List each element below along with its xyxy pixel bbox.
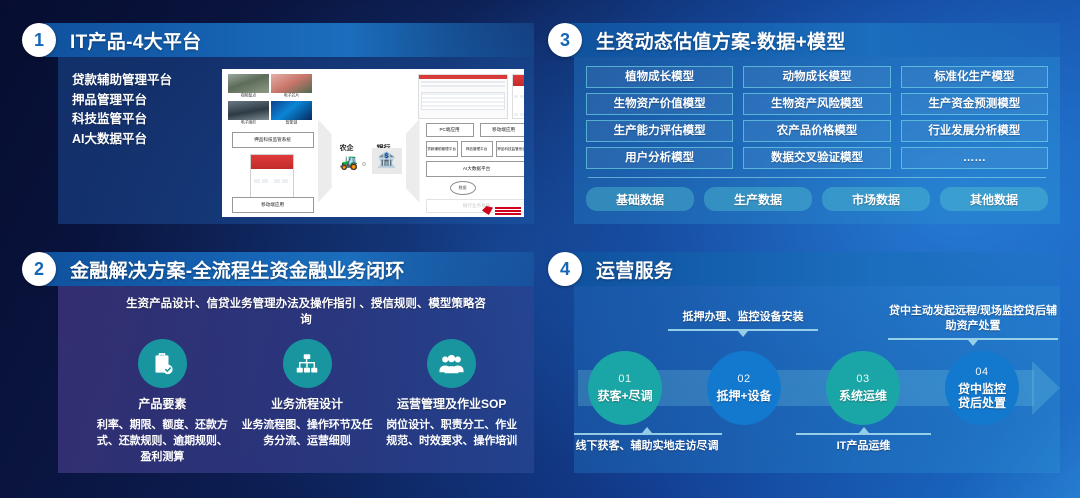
data-sync-icon: 数据	[450, 181, 476, 195]
quadrant-4-operation-service: 4 运营服务 抵押办理、监控设备安装 贷中主动发起远程/现场监控贷后辅助资产处置…	[548, 252, 1060, 473]
vendor-logo	[482, 206, 521, 215]
mobile-app-mockup-right	[512, 74, 524, 119]
quadrant-2-intro-text: 生资产品设计、信贷业务管理办法及操作指引 、授信规则、模型策略咨询	[68, 296, 524, 328]
service-body: 业务流程图、操作环节及任务分流、运营细则	[241, 417, 374, 449]
step-number: 03	[856, 373, 869, 385]
service-heading: 运营管理及作业SOP	[385, 395, 518, 412]
bank-building-icon: 🏦	[372, 148, 402, 174]
label-agricultural-enterprise: 农企	[340, 143, 354, 153]
model-cell: 行业发展分析模型	[901, 120, 1048, 142]
thumbnail-label: 视频监点	[224, 93, 271, 99]
step-label: 系统运维	[839, 389, 887, 403]
quadrant-2-financial-solution: 2 金融解决方案-全流程生资金融业务闭环 生资产品设计、信贷业务管理办法及操作指…	[22, 252, 534, 473]
platform-list: 贷款辅助管理平台 押品管理平台 科技监管平台 AI大数据平台	[72, 69, 216, 149]
mini-cell	[514, 113, 518, 116]
thumbnail-image	[228, 101, 269, 120]
diagram-box-loan-platform: 贷款辅助管理平台	[426, 141, 458, 157]
quadrant-3-valuation-solution: 3 生资动态估值方案-数据+模型 植物成长模型 动物成长模型 标准化生产模型 生…	[548, 23, 1060, 224]
logo-wordmark	[495, 207, 521, 215]
diagram-box-pc-app: PC端应用	[426, 123, 474, 137]
people-group-icon	[427, 339, 476, 388]
step-label: 获客+尽调	[597, 389, 652, 403]
architecture-diagram-screenshot: 视频监点 电子芯片 电子围栏 智能锁 押品科技监管系统	[222, 69, 524, 217]
phone-cell	[254, 179, 260, 183]
caption-step-1: 线下获客、辅助实地走访尽调	[574, 427, 722, 454]
process-step-01[interactable]: 01 获客+尽调	[588, 351, 662, 425]
mini-cell	[520, 95, 524, 98]
service-body: 岗位设计、职责分工、作业规范、时效要求、操作培训	[385, 417, 518, 449]
model-cell: 动物成长模型	[743, 66, 890, 88]
diagram-box-ai-bigdata: AI大数据平台	[426, 161, 524, 177]
diagram-box-mobile-app-left: 移动端应用	[232, 197, 314, 213]
service-column: 业务流程设计 业务流程图、操作环节及任务分流、运营细则	[235, 339, 380, 465]
mini-phone-grid	[513, 86, 524, 119]
quadrant-4-body: 抵押办理、监控设备安装 贷中主动发起远程/现场监控贷后辅助资产处置 01 获客+…	[574, 286, 1060, 473]
service-body: 利率、期限、额度、还款方式、还款规则、逾期规则、盈利测算	[96, 417, 229, 465]
quadrant-1-body: 贷款辅助管理平台 押品管理平台 科技监管平台 AI大数据平台 视频监点 电子芯片…	[58, 57, 534, 224]
thumbnail-image	[228, 74, 269, 93]
model-cell: 生物资产价值模型	[586, 93, 733, 115]
quadrant-number-badge: 1	[22, 23, 56, 57]
service-heading: 业务流程设计	[241, 395, 374, 412]
thumbnail-label: 智能锁	[267, 120, 314, 126]
quadrant-2-header: 2 金融解决方案-全流程生资金融业务闭环	[22, 252, 534, 286]
thumbnail-video-monitor: 视频监点	[228, 74, 269, 98]
mobile-phone-mockup	[250, 154, 294, 199]
clipboard-check-icon	[138, 339, 187, 388]
quadrant-3-title: 生资动态估值方案-数据+模型	[596, 27, 846, 54]
caption-underline	[796, 433, 931, 435]
step-label: 抵押+设备	[716, 389, 771, 403]
phone-cell	[262, 179, 268, 183]
quadrant-4-title: 运营服务	[596, 256, 673, 283]
funnel-right-shape	[406, 119, 420, 203]
model-cell: 植物成长模型	[586, 66, 733, 88]
service-columns: 产品要素 利率、期限、额度、还款方式、还款规则、逾期规则、盈利测算 业务流程设计…	[68, 339, 524, 465]
thumbnail-label: 电子围栏	[224, 120, 271, 126]
thumbnail-image	[271, 74, 312, 93]
mini-phone-header	[513, 75, 524, 86]
phone-cell	[282, 179, 288, 183]
diagram-box-mobile-app-right: 移动端应用	[480, 123, 524, 137]
platform-item: 科技监管平台	[72, 110, 216, 130]
model-cell: 生物资产风险模型	[743, 93, 890, 115]
step-number: 04	[975, 366, 988, 378]
thumbnail-image	[271, 101, 312, 120]
platform-item: 押品管理平台	[72, 91, 216, 111]
caption-text: 线下获客、辅助实地走访尽调	[576, 440, 719, 452]
console-row	[421, 81, 505, 83]
diagram-box-supervision-system: 押品科技监管系统	[232, 132, 314, 148]
step-number: 01	[618, 373, 631, 385]
thumbnail-electronic-chip: 电子芯片	[271, 74, 312, 98]
quadrant-2-body: 生资产品设计、信贷业务管理办法及操作指引 、授信规则、模型策略咨询 产品要素 利…	[58, 286, 534, 473]
mini-cell	[514, 95, 518, 98]
thumbnail-electronic-fence: 电子围栏	[228, 101, 269, 125]
data-chip: 市场数据	[822, 187, 930, 211]
model-cell: 用户分析模型	[586, 147, 733, 169]
section-divider	[588, 177, 1046, 178]
data-chip-row: 基础数据 生产数据 市场数据 其他数据	[586, 187, 1048, 211]
quadrant-1-title: IT产品-4大平台	[70, 27, 201, 54]
quadrant-1-header: 1 IT产品-4大平台	[22, 23, 534, 57]
monitoring-thumbnails: 视频监点 电子芯片 电子围栏 智能锁	[228, 74, 316, 128]
console-table	[421, 92, 505, 110]
tractor-icon: 🚜	[340, 155, 359, 170]
quadrant-1-it-products: 1 IT产品-4大平台 贷款辅助管理平台 押品管理平台 科技监管平台 AI大数据…	[22, 23, 534, 224]
model-cell: 生产资金预测模型	[901, 93, 1048, 115]
model-cell: 标准化生产模型	[901, 66, 1048, 88]
caption-step-3: IT产品运维	[796, 427, 931, 454]
diagram-box-collateral-platform: 押品管理平台	[461, 141, 493, 157]
platform-item: 贷款辅助管理平台	[72, 71, 216, 91]
phone-header	[251, 155, 293, 169]
data-chip: 基础数据	[586, 187, 694, 211]
data-chip: 其他数据	[940, 187, 1048, 211]
model-grid: 植物成长模型 动物成长模型 标准化生产模型 生物资产价值模型 生物资产风险模型 …	[586, 66, 1048, 169]
model-cell: 生产能力评估模型	[586, 120, 733, 142]
phone-grid	[251, 169, 293, 199]
service-column: 运营管理及作业SOP 岗位设计、职责分工、作业规范、时效要求、操作培训	[379, 339, 524, 465]
process-step-03[interactable]: 03 系统运维	[826, 351, 900, 425]
process-step-04[interactable]: 04 贷中监控 贷后处置	[945, 351, 1019, 425]
phone-cell	[274, 179, 280, 183]
quadrant-number-badge: 2	[22, 252, 56, 286]
service-heading: 产品要素	[96, 395, 229, 412]
quadrant-2-title: 金融解决方案-全流程生资金融业务闭环	[70, 256, 405, 283]
funnel-left-shape	[318, 119, 332, 203]
caption-text: IT产品运维	[837, 440, 891, 452]
caption-underline	[574, 433, 722, 435]
model-cell: 农产品价格模型	[743, 120, 890, 142]
console-filters	[419, 79, 507, 90]
step-number: 02	[737, 373, 750, 385]
quadrant-number-badge: 3	[548, 23, 582, 57]
thumbnail-label: 电子芯片	[267, 93, 314, 99]
service-column: 产品要素 利率、期限、额度、还款方式、还款规则、逾期规则、盈利测算	[90, 339, 235, 465]
quadrant-4-header: 4 运营服务	[548, 252, 1060, 286]
quadrant-3-body: 植物成长模型 动物成长模型 标准化生产模型 生物资产价值模型 生物资产风险模型 …	[574, 57, 1060, 224]
console-row	[421, 85, 505, 87]
quadrant-number-badge: 4	[548, 252, 582, 286]
model-cell: 数据交叉验证模型	[743, 147, 890, 169]
platform-item: AI大数据平台	[72, 130, 216, 150]
data-chip: 生产数据	[704, 187, 812, 211]
org-chart-icon	[283, 339, 332, 388]
mini-cell	[520, 113, 524, 116]
thumbnail-smart-lock: 智能锁	[271, 101, 312, 125]
step-label: 贷中监控 贷后处置	[958, 382, 1006, 410]
connector-dot	[362, 162, 366, 166]
logo-mark-icon	[482, 206, 493, 215]
model-cell: ……	[901, 147, 1048, 169]
process-step-02[interactable]: 02 抵押+设备	[707, 351, 781, 425]
quadrant-3-header: 3 生资动态估值方案-数据+模型	[548, 23, 1060, 57]
pc-console-mockup	[418, 74, 508, 119]
diagram-box-tech-supervision: 押品科技监管系统	[496, 141, 524, 157]
